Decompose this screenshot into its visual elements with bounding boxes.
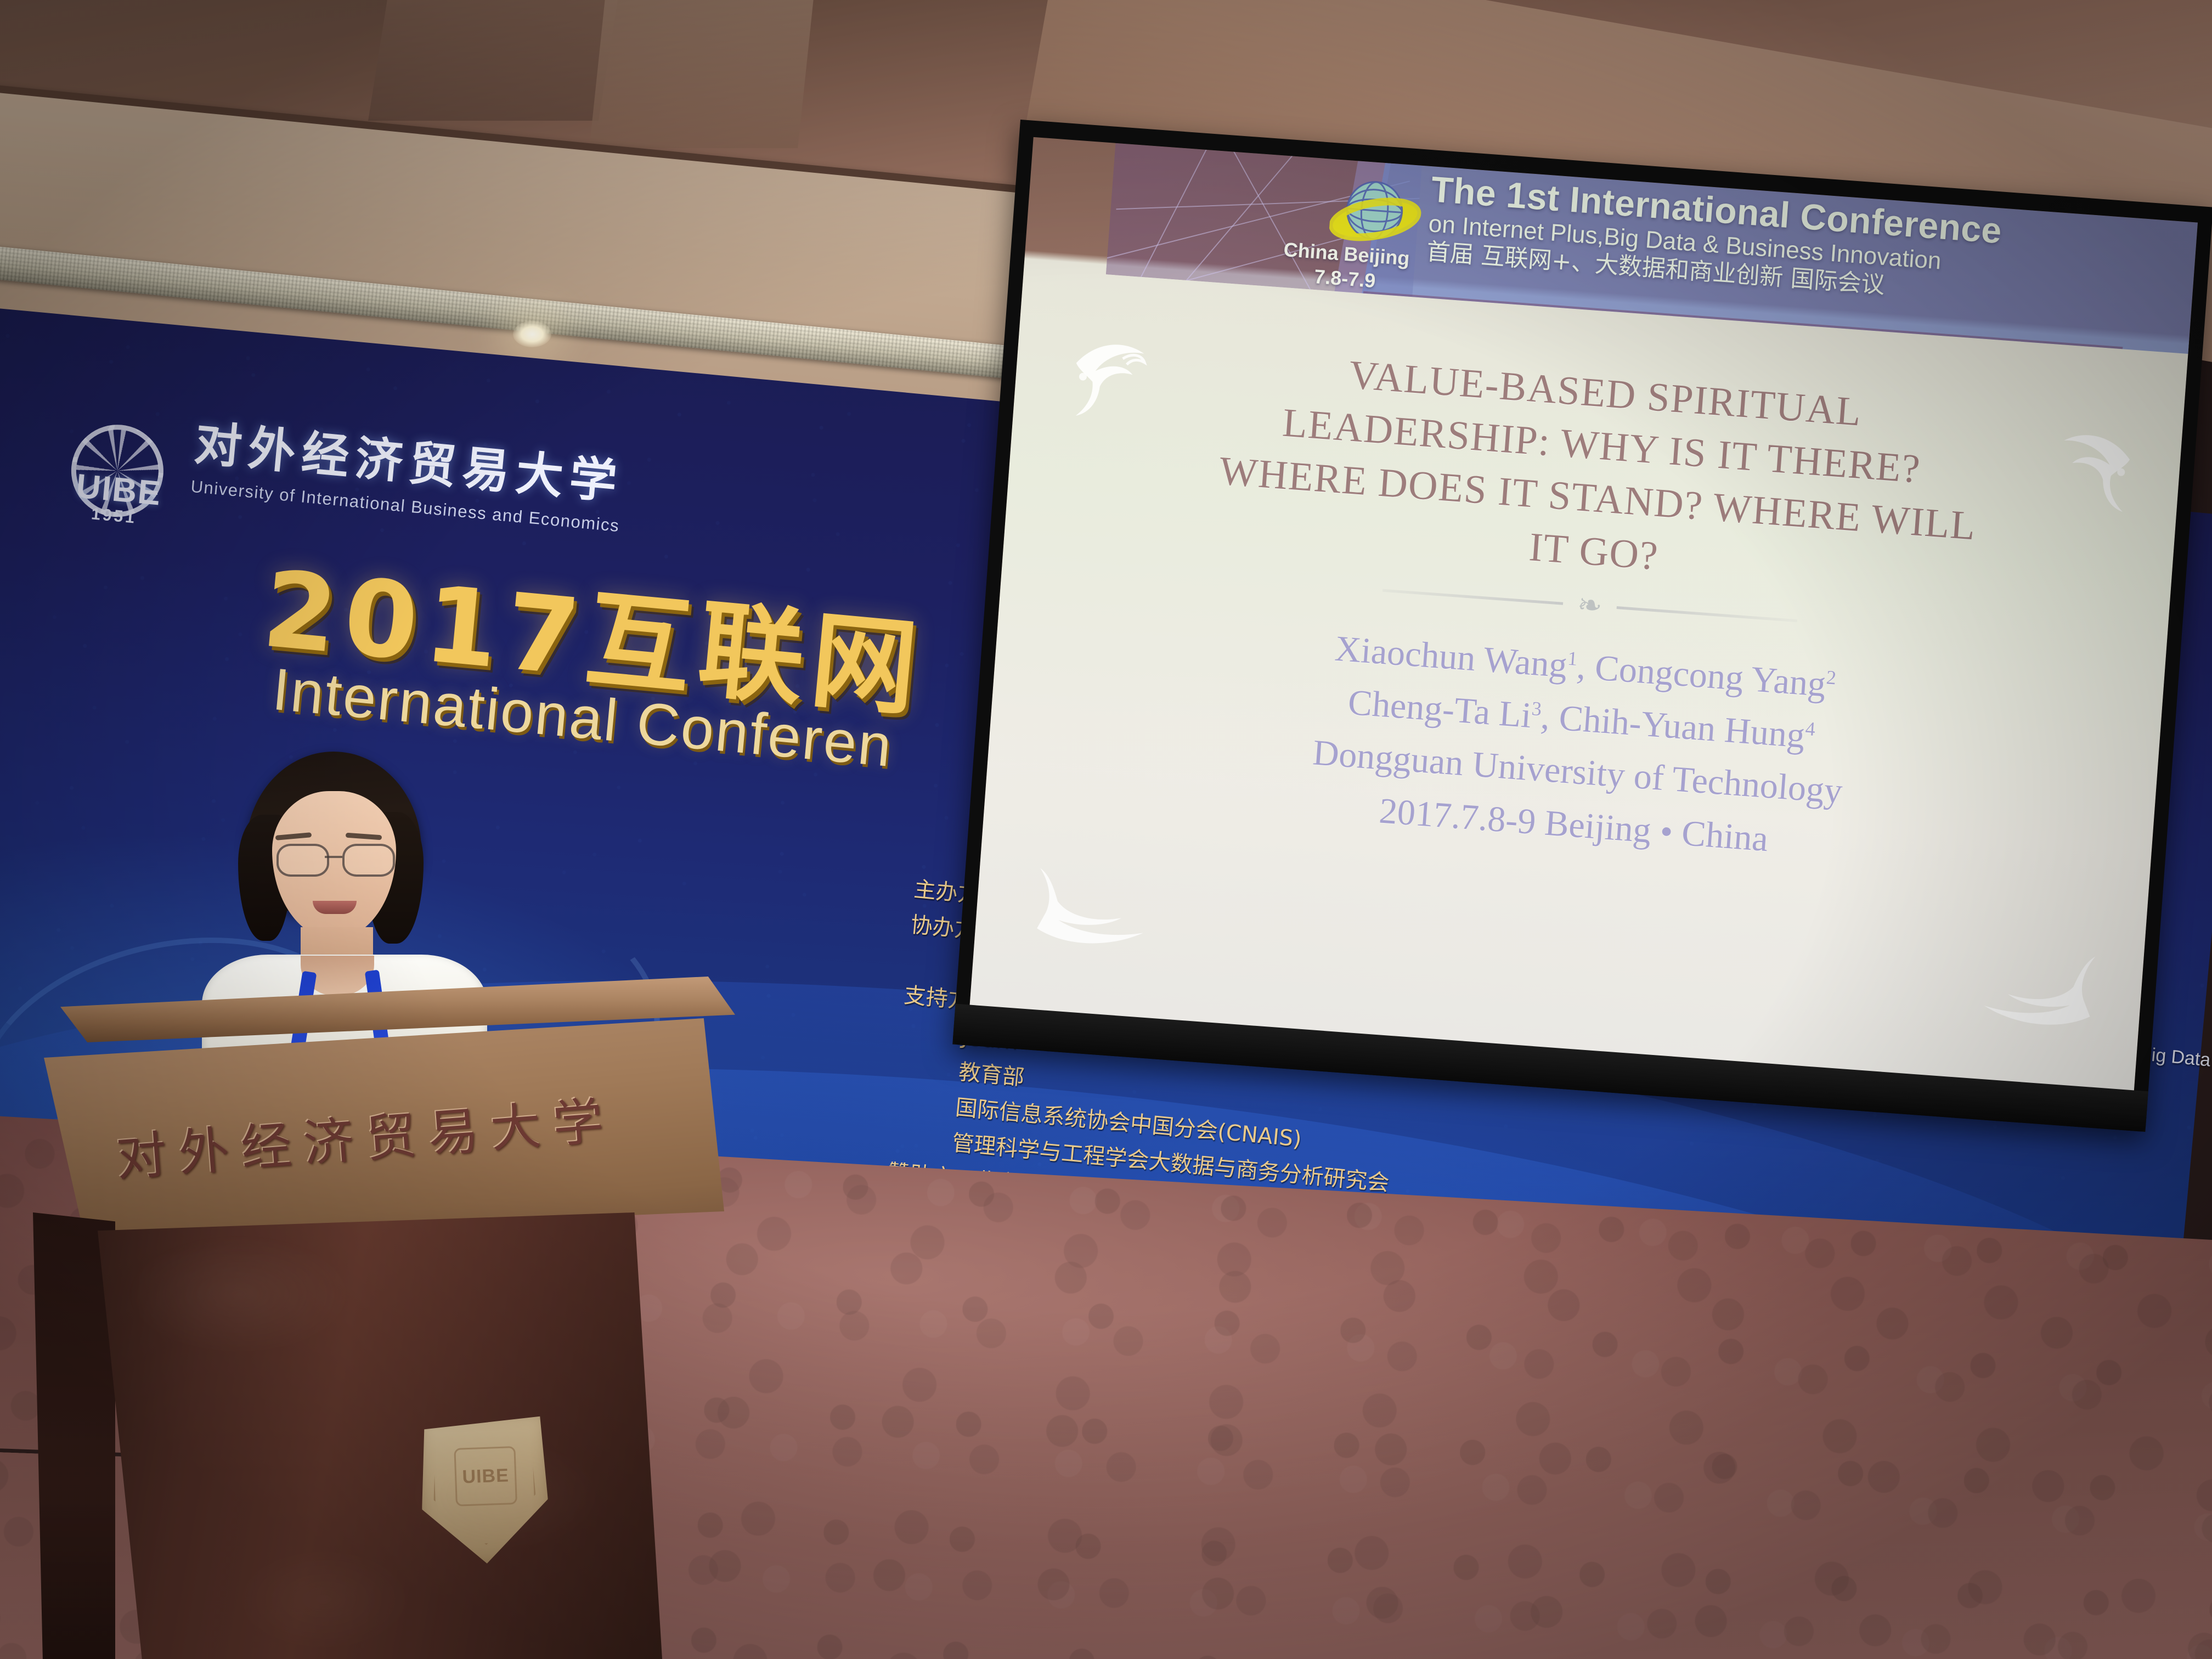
- podium-body: UIBE: [98, 1212, 663, 1659]
- podium-front-panel: 对外经济贸易大学: [44, 1018, 724, 1238]
- uibe-emblem-icon: UIBE 1951: [56, 408, 176, 535]
- conference-photo-scene: UIBE 1951 对外经济贸易大学 University of Interna…: [0, 0, 2212, 1659]
- eyeglass-lens: [276, 844, 329, 877]
- uibe-logo-year: 1951: [91, 505, 138, 527]
- podium-university-emblem-icon: UIBE: [419, 1413, 550, 1566]
- corner-flourish-icon: [1966, 923, 2100, 1039]
- projection-screen: The 1st International Conference on Inte…: [952, 120, 2212, 1132]
- slide-body: VALUE-BASED SPIRITUAL LEADERSHIP: WHY IS…: [1031, 278, 2138, 1071]
- corner-flourish-icon: [1032, 843, 1166, 959]
- divider-bar-right: [1616, 606, 1797, 622]
- eyeglasses-icon: [273, 844, 395, 872]
- ceiling-panel: [368, 0, 619, 121]
- presentation-slide: The 1st International Conference on Inte…: [969, 137, 2198, 1092]
- divider-ornament-icon: ❧: [1577, 605, 1602, 606]
- emblem-inner-border: [431, 1427, 537, 1547]
- slide-title: VALUE-BASED SPIRITUAL LEADERSHIP: WHY IS…: [1064, 329, 2135, 617]
- ceiling-panel: [589, 0, 815, 148]
- speaker-mouth: [313, 901, 357, 914]
- screen-surface: The 1st International Conference on Inte…: [969, 137, 2198, 1092]
- podium-carved-text-cn: 对外经济贸易大学: [113, 1078, 638, 1190]
- eyeglass-lens: [342, 844, 395, 877]
- ceiling-downlight-icon: [513, 321, 551, 347]
- slide-authors-block: Xiaochun Wang1, Congcong Yang2 Cheng-Ta …: [1045, 602, 2115, 890]
- divider-bar-left: [1383, 589, 1563, 605]
- eyeglass-bridge: [325, 856, 342, 858]
- emblem-letters: UIBE: [454, 1446, 517, 1506]
- author-affiliation-marker: 4: [1804, 718, 1816, 740]
- author-name: Xiaochun Wang: [1334, 628, 1568, 685]
- uibe-logo-letters: UIBE: [75, 467, 160, 513]
- author-affiliation-marker: 2: [1826, 666, 1837, 689]
- lectern-podium: 对外经济贸易大学 UIBE: [27, 977, 746, 1659]
- author-name: Cheng-Ta Li: [1347, 682, 1533, 736]
